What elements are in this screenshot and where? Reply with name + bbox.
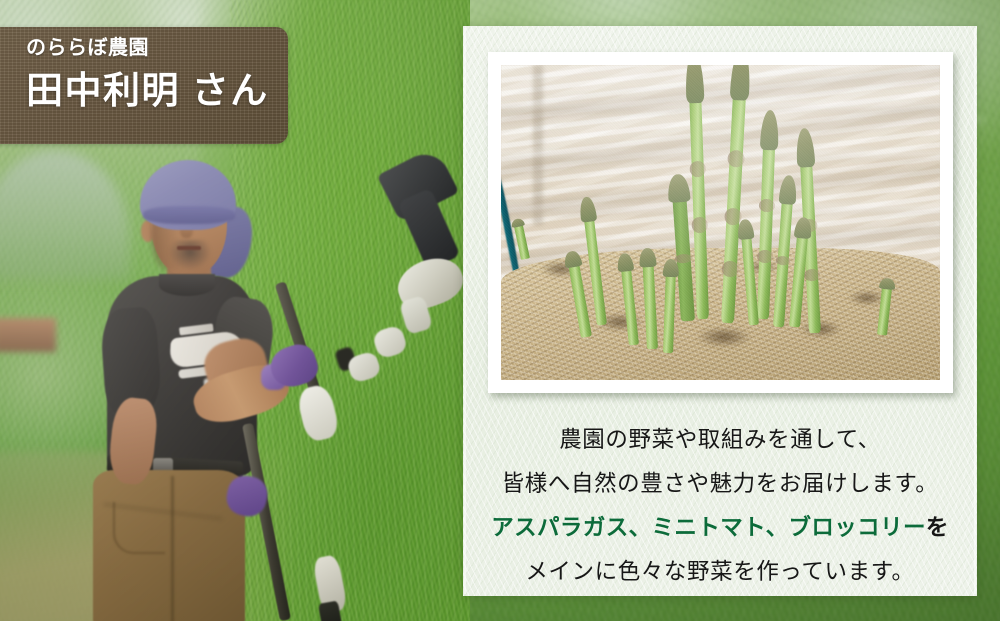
- trouser-seam: [171, 476, 174, 621]
- farmer-profile-banner: のららぼ農園 田中利明 さん: [0, 0, 1000, 621]
- person-name: 田中利明 さん: [26, 66, 288, 116]
- soil-patch: [801, 321, 841, 337]
- description-line-3: アスパラガス、ミニトマト、ブロッコリーを: [463, 506, 977, 550]
- description-line-1: 農園の野菜や取組みを通して、: [463, 418, 977, 462]
- beard: [169, 240, 211, 270]
- name-plate: のららぼ農園 田中利明 さん: [0, 27, 288, 144]
- tool-shaft-lower: [242, 423, 291, 621]
- asparagus-photo: [501, 65, 940, 380]
- photo-frame: [488, 52, 953, 393]
- work-trousers: [93, 470, 245, 621]
- tool-grip-hand: [295, 383, 340, 443]
- bandana-fold: [143, 206, 235, 224]
- crop-highlight: アスパラガス、ミニトマト、ブロッコリー: [491, 515, 926, 540]
- crop-highlight-particle: を: [926, 515, 949, 540]
- description-line-2: 皆様へ自然の豊さや魅力をお届けします。: [463, 462, 977, 506]
- card-description: 農園の野菜や取組みを通して、 皆様へ自然の豊さや魅力をお届けします。 アスパラガ…: [463, 418, 977, 594]
- distant-house: [0, 318, 56, 352]
- farm-name: のららぼ農園: [26, 35, 288, 61]
- tshirt-collar: [159, 274, 215, 296]
- description-line-4: メインに色々な野菜を作っています。: [463, 550, 977, 594]
- farmer-figure: [85, 158, 345, 621]
- info-card: 農園の野菜や取組みを通して、 皆様へ自然の豊さや魅力をお届けします。 アスパラガ…: [463, 26, 977, 596]
- soil-patch: [697, 327, 751, 347]
- mouth: [177, 246, 201, 250]
